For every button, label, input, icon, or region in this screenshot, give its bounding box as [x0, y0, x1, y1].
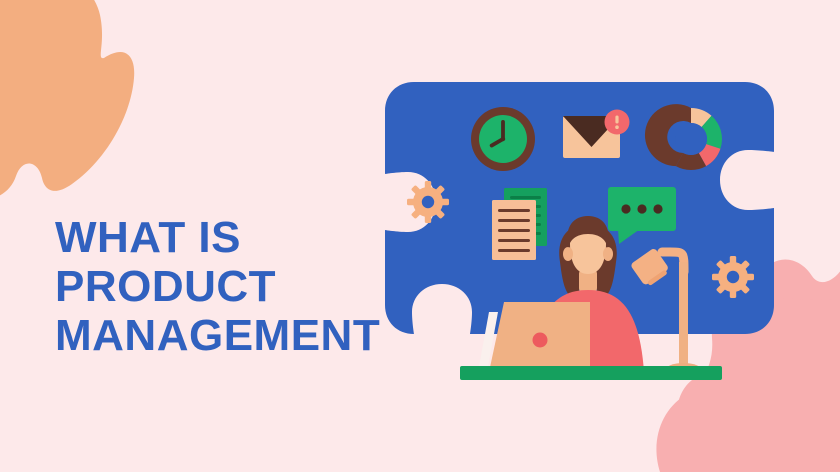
envelope-icon: [563, 110, 630, 159]
ear-right: [603, 247, 613, 261]
chat-dot-3: [653, 204, 662, 213]
laptop-logo: [533, 333, 548, 348]
chat-dot-2: [637, 204, 646, 213]
laptop: [478, 302, 590, 372]
clock-icon: [471, 107, 535, 171]
gear-icon-right: [712, 256, 754, 298]
page-title: What is Product Management: [55, 213, 425, 360]
slide-canvas: What is Product Management: [0, 0, 840, 472]
ear-left: [563, 247, 573, 261]
desk-surface: [460, 366, 722, 380]
notification-badge: [605, 110, 630, 135]
headline-line-1: What is: [55, 213, 425, 262]
headline-line-3: Management: [55, 311, 425, 360]
headline-line-2: Product: [55, 262, 425, 311]
chat-dot-1: [621, 204, 630, 213]
